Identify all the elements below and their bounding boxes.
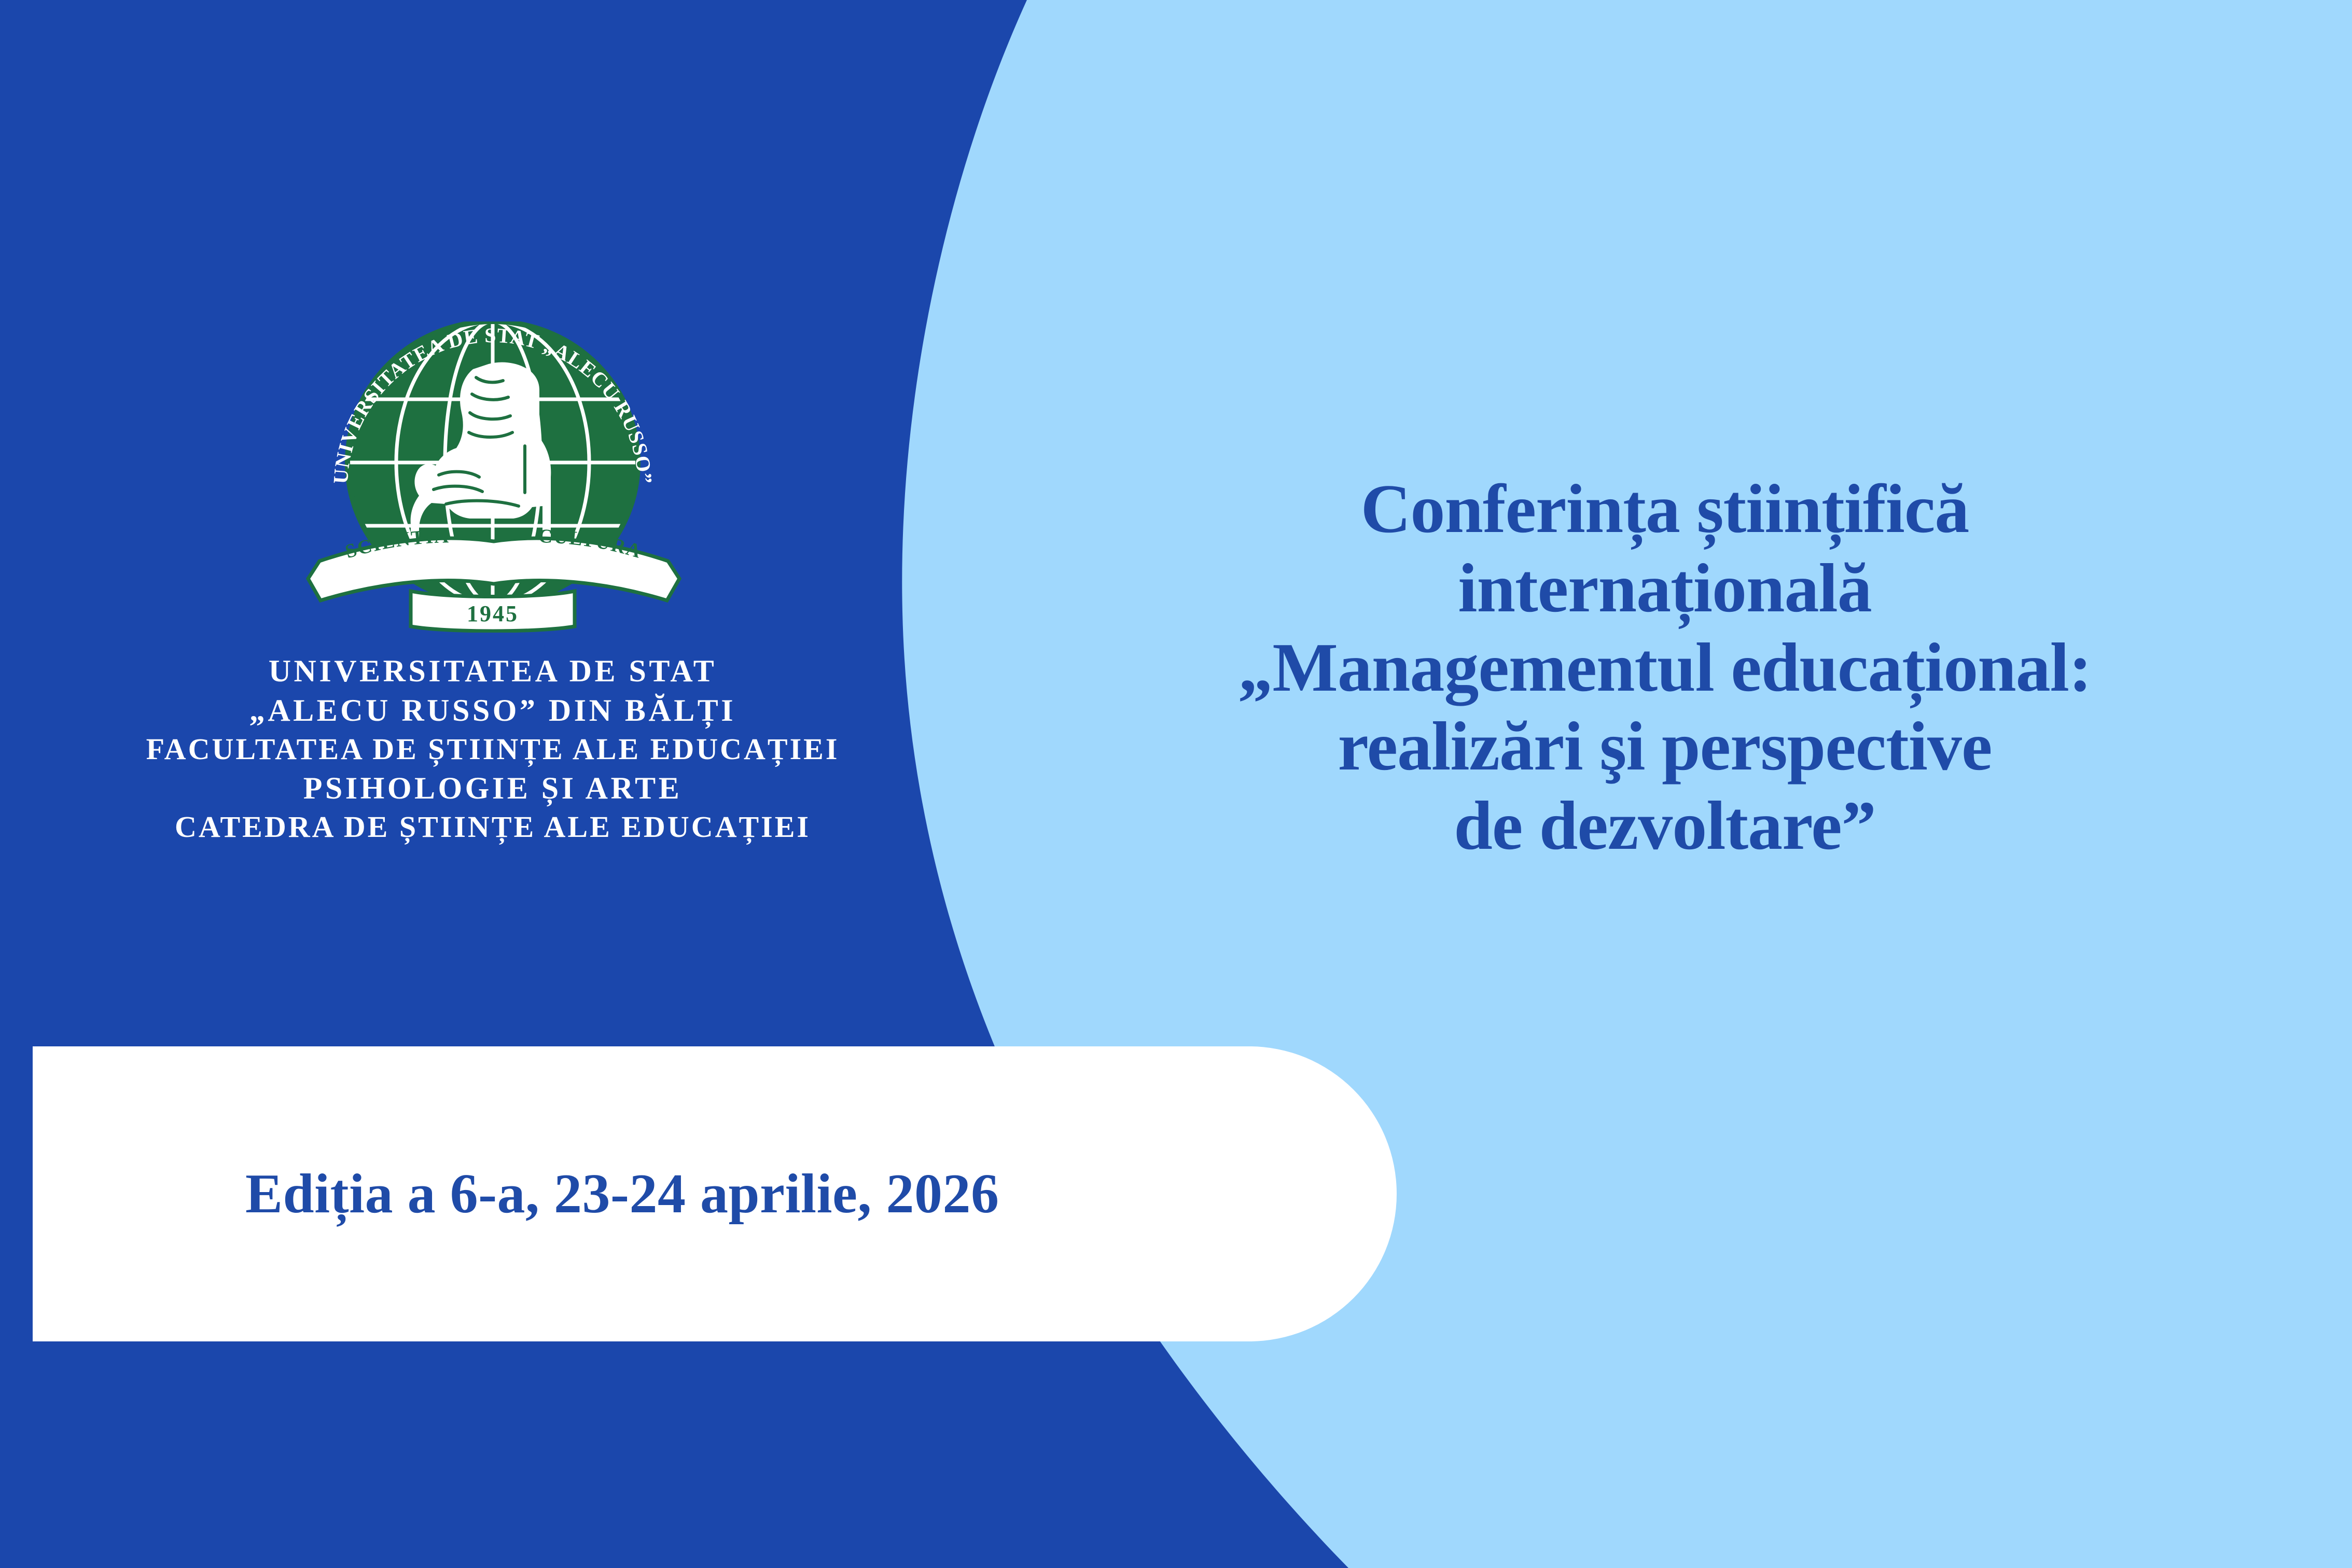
date-badge: Ediția a 6-a, 23-24 aprilie, 2026: [33, 1046, 1397, 1341]
conference-title-line-5: de dezvoltare”: [1068, 786, 2261, 865]
organizer-name-block: UNIVERSITATEA DE STAT „ALECU RUSSO” DIN …: [0, 651, 985, 846]
organizer-line-3: FACULTATEA DE ȘTIINȚE ALE EDUCAȚIEI: [0, 730, 985, 768]
organizer-column: UNIVERSITATEA DE STAT „ALECU RUSSO”: [0, 321, 985, 846]
organizer-line-1: UNIVERSITATEA DE STAT: [0, 651, 985, 691]
conference-title-block: Conferința științifică internațională „M…: [1068, 469, 2261, 865]
organizer-line-2: „ALECU RUSSO” DIN BĂLȚI: [0, 691, 985, 730]
organizer-line-5: CATEDRA DE ȘTIINȚE ALE EDUCAȚIEI: [0, 808, 985, 846]
crest-year-label: 1945: [467, 601, 519, 626]
date-badge-label: Ediția a 6-a, 23-24 aprilie, 2026: [245, 1162, 999, 1226]
conference-title-line-2: internațională: [1068, 549, 2261, 628]
university-crest-logo-icon: UNIVERSITATEA DE STAT „ALECU RUSSO”: [290, 321, 695, 633]
conference-poster: Ediția a 6-a, 23-24 aprilie, 2026: [0, 0, 2352, 1568]
university-crest-logo: UNIVERSITATEA DE STAT „ALECU RUSSO”: [290, 321, 695, 633]
conference-title-line-4: realizări şi perspective: [1068, 707, 2261, 786]
conference-title-line-3: „Managementul educațional:: [1068, 628, 2261, 707]
conference-title-line-1: Conferința științifică: [1068, 469, 2261, 549]
organizer-line-4: PSIHOLOGIE ȘI ARTE: [0, 768, 985, 808]
